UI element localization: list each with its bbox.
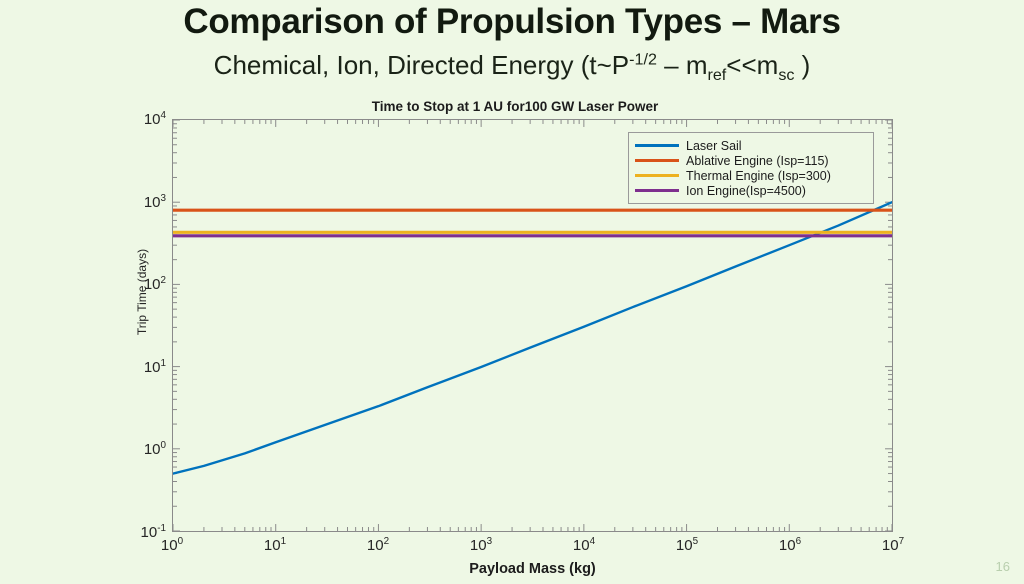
y-tick-exponent: 2 [161,275,167,286]
subtitle-tail: ) [794,50,810,80]
x-tick-label: 104 [573,536,595,554]
x-tick-exponent: 1 [281,536,287,547]
x-axis-tick-labels: 100101102103104105106107 [172,536,893,558]
legend-item-label: Laser Sail [686,139,742,153]
legend-color-swatch [635,159,679,162]
legend-item[interactable]: Laser Sail [635,138,867,153]
x-tick-exponent: 0 [178,536,184,547]
x-tick-base: 10 [573,537,590,554]
subtitle-exponent: -1/2 [629,50,657,68]
x-tick-base: 10 [470,537,487,554]
x-tick-base: 10 [882,537,899,554]
subtitle-subscript-sc: sc [778,66,794,84]
x-tick-exponent: 2 [384,536,390,547]
y-tick-base: 10 [141,524,158,541]
y-tick-exponent: 0 [161,440,167,451]
legend-item-label: Thermal Engine (Isp=300) [686,169,831,183]
x-tick-base: 10 [676,537,693,554]
x-tick-label: 100 [161,536,183,554]
data-series-layer [173,202,892,473]
x-tick-exponent: 6 [796,536,802,547]
page-number: 16 [996,559,1010,574]
y-axis-label: Trip Time (days) [135,162,149,422]
legend-item[interactable]: Thermal Engine (Isp=300) [635,168,867,183]
x-tick-exponent: 7 [899,536,905,547]
x-tick-base: 10 [779,537,796,554]
x-tick-label: 106 [779,536,801,554]
x-tick-exponent: 5 [693,536,699,547]
y-tick-label: 104 [144,110,166,128]
x-tick-label: 102 [367,536,389,554]
x-tick-label: 105 [676,536,698,554]
y-tick-base: 10 [144,441,161,458]
series-line-laser-sail [173,202,892,473]
legend-item[interactable]: Ablative Engine (Isp=115) [635,153,867,168]
subtitle-subscript-ref: ref [707,66,726,84]
subtitle-lead: Chemical, Ion, Directed Energy (t~P [214,50,629,80]
page-title: Comparison of Propulsion Types – Mars [0,2,1024,42]
y-tick-label: 100 [144,440,166,458]
x-axis-label: Payload Mass (kg) [172,561,893,577]
subtitle-lt: <<m [726,50,778,80]
x-tick-label: 101 [264,536,286,554]
y-tick-exponent: -1 [157,523,166,534]
legend-color-swatch [635,174,679,177]
subtitle-mid: – m [657,50,708,80]
chart-legend: Laser SailAblative Engine (Isp=115)Therm… [628,132,874,204]
page-subtitle: Chemical, Ion, Directed Energy (t~P-1/2 … [0,50,1024,85]
x-tick-base: 10 [367,537,384,554]
chart-figure: Time to Stop at 1 AU for100 GW Laser Pow… [120,95,910,555]
legend-item[interactable]: Ion Engine(Isp=4500) [635,183,867,198]
y-tick-base: 10 [144,111,161,128]
x-tick-base: 10 [161,537,178,554]
y-tick-exponent: 1 [161,358,167,369]
legend-item-label: Ion Engine(Isp=4500) [686,184,806,198]
x-tick-label: 103 [470,536,492,554]
legend-color-swatch [635,144,679,147]
y-tick-exponent: 3 [161,193,167,204]
legend-item-label: Ablative Engine (Isp=115) [686,154,829,168]
x-tick-exponent: 4 [590,536,596,547]
x-tick-exponent: 3 [487,536,493,547]
y-tick-exponent: 4 [161,110,167,121]
chart-title: Time to Stop at 1 AU for100 GW Laser Pow… [120,99,910,114]
legend-color-swatch [635,189,679,192]
x-tick-base: 10 [264,537,281,554]
x-tick-label: 107 [882,536,904,554]
